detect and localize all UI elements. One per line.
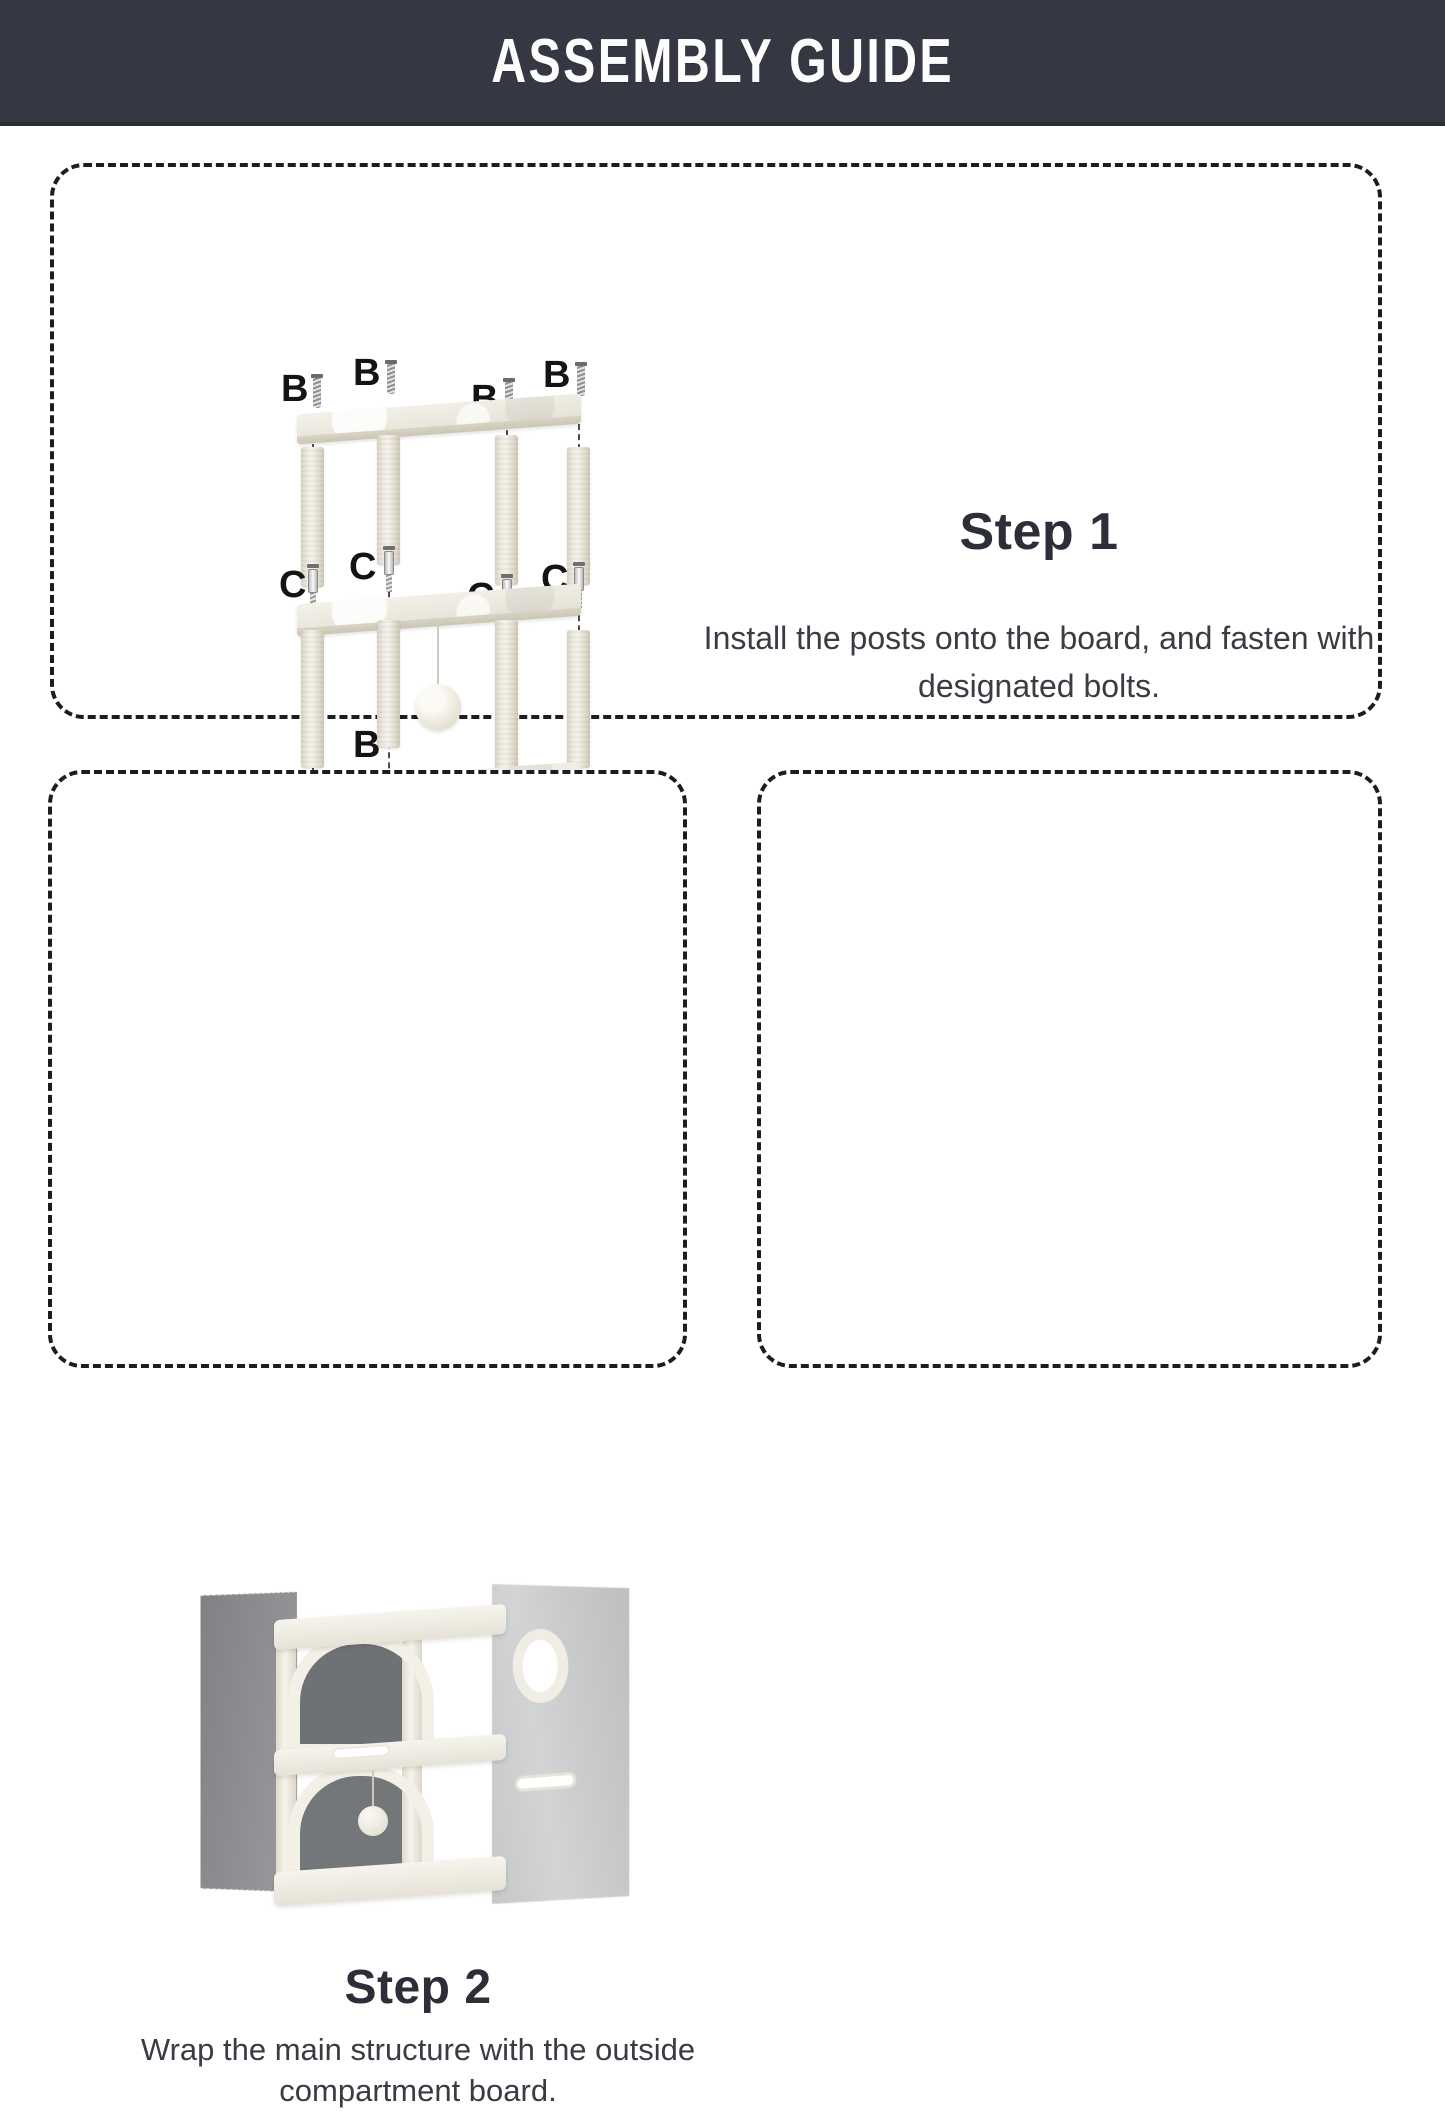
step-1-text-block: Step 1 Install the posts onto the board,…: [694, 502, 1384, 710]
post: [495, 435, 518, 585]
toy-string: [437, 622, 439, 688]
upper-arch-frame: [288, 1632, 434, 1756]
post: [301, 630, 324, 768]
wrap-panel-right: [492, 1563, 629, 1925]
part-label-b: B: [353, 354, 380, 392]
step-1-body: Install the posts onto the board, and fa…: [694, 614, 1384, 710]
step-1-card: B B B B C C C C: [50, 163, 1382, 719]
top-board: [297, 394, 581, 445]
barrel-connector-icon: [383, 546, 395, 592]
header-underline: [0, 122, 1445, 126]
step-2-illustration: [192, 1574, 632, 1944]
step-2-card: Step 2 Wrap the main structure with the …: [48, 770, 687, 1368]
screw-icon: [385, 360, 397, 394]
page-header: ASSEMBLY GUIDE: [0, 0, 1445, 122]
page-title: ASSEMBLY GUIDE: [491, 26, 954, 97]
pom-pom-ball: [358, 1806, 388, 1836]
screw-icon: [575, 362, 587, 396]
part-label-c: C: [279, 566, 306, 604]
post: [567, 630, 590, 768]
pom-pom-ball: [415, 684, 461, 730]
part-label-b: B: [353, 726, 380, 764]
middle-board: [297, 584, 581, 637]
step-2-body: Wrap the main structure with the outside…: [112, 2029, 724, 2111]
step-2-heading: Step 2: [112, 1960, 724, 2015]
screw-icon: [311, 374, 323, 408]
post: [495, 620, 518, 770]
step-1-heading: Step 1: [694, 502, 1384, 562]
step-2-text-block: Step 2 Wrap the main structure with the …: [112, 1960, 724, 2111]
part-label-c: C: [349, 548, 376, 586]
step-3-card: Step 3 And you have a completely assembl…: [757, 770, 1382, 1368]
part-label-b: B: [281, 370, 308, 408]
part-label-b: B: [543, 356, 570, 394]
wrap-panel-opening: [513, 1628, 569, 1703]
toy-string: [372, 1770, 374, 1808]
